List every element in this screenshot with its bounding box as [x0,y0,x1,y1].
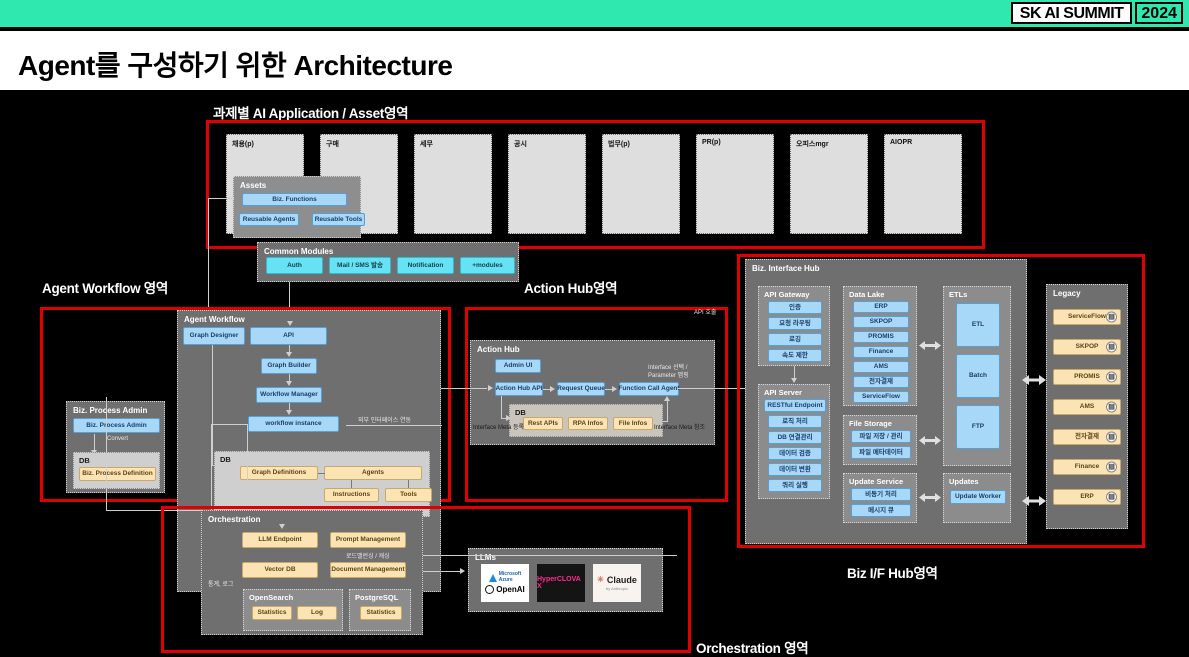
api-gateway-title: API Gateway [764,290,809,299]
arrow-wfm-instance [286,410,292,415]
data-lake-panel: Data Lake ERP SKPOP PROMIS Finance AMS 전… [843,286,917,406]
node-api-server-4[interactable]: 데이터 변환 [768,463,822,476]
node-graph-designer[interactable]: Graph Designer [183,327,245,345]
biz-interface-hub-panel: Biz. Interface Hub API Gateway 인증 요청 라우팅… [745,259,1027,544]
database-icon: ▤ [1106,342,1117,353]
label-loadbalance: 로드밸런싱 / 캐싱 [346,551,390,560]
node-workflow-instance[interactable]: workflow instance [248,416,339,432]
node-update-worker[interactable]: Update Worker [950,490,1006,504]
node-api-server-5[interactable]: 쿼리 실행 [768,479,822,492]
node-api-gateway-1[interactable]: 요청 라우팅 [768,317,822,330]
legacy-label-6: ERP [1080,493,1093,500]
legacy-label-0: ServiceFlow [1068,313,1106,320]
connector-assets-left [208,198,234,199]
node-legacy-2[interactable]: PROMIS ▤ [1053,369,1121,385]
llms-panel: LLMs Microsoft Azure OpenAI HyperCLOVA X… [468,548,663,612]
node-admin-ui[interactable]: Admin UI [495,359,541,373]
biz-process-admin-title: Biz. Process Admin [73,406,147,415]
connector-common-to-api [289,282,290,310]
orchestration-panel: Orchestration LLM Endpoint Prompt Manage… [201,510,423,635]
node-modules[interactable]: +modules [460,257,515,274]
logo-sk-ai-summit: SK AI SUMMIT [1011,2,1133,24]
legacy-label-3: AMS [1080,403,1094,410]
common-modules-title: Common Modules [264,247,333,256]
node-graph-definitions[interactable]: Graph Definitions [240,466,318,480]
updates-title: Updates [949,477,979,486]
node-etl[interactable]: ETL [956,303,1000,347]
azure-line2: Azure [499,577,513,583]
app-label-0: 채용(p) [232,139,254,149]
node-data-lake-6[interactable]: ServiceFlow [853,391,909,403]
arrow-into-llm-endpoint [279,524,285,529]
caption-action-hub: Action Hub영역 [524,277,617,297]
connector-api-to-db [501,396,502,418]
database-icon: ▤ [1106,372,1117,383]
node-biz-functions[interactable]: Biz. Functions [242,193,347,206]
claude-label: Claude [607,575,637,585]
app-box-2[interactable]: 세무 [414,134,492,234]
connector-orch-right [423,555,677,556]
node-api-server-3[interactable]: 데이터 검증 [768,447,822,460]
update-service-title: Update Service [849,477,903,486]
node-legacy-1[interactable]: SKPOP ▤ [1053,339,1121,355]
claude-logo-icon: ✳ [597,576,604,584]
node-document-management[interactable]: Document Management [330,562,406,578]
file-storage-panel: File Storage 파일 저장 / 관리 파일 메타데이터 [843,415,917,465]
node-opensearch-statistics[interactable]: Statistics [252,606,292,620]
app-box-4[interactable]: 법무(p) [602,134,680,234]
arrow-queue-fca [612,386,617,392]
connector-graphdef-agents [318,473,325,474]
action-hub-panel: Action Hub Admin UI Action Hub API Reque… [470,340,715,445]
app-label-5: PR(p) [702,139,721,146]
connector-db-to-fca [667,401,668,421]
arrow-gateway-server [791,378,797,383]
node-api-server-2[interactable]: DB 연결관리 [768,431,822,444]
logo-year: 2024 [1135,2,1183,24]
node-biz-process-definition[interactable]: Biz. Process Definition [79,467,156,481]
page-title: Agent를 구성하기 위한 Architecture [18,44,452,84]
biz-process-db-panel: DB Biz. Process Definition [73,452,160,489]
node-batch[interactable]: Batch [956,354,1000,398]
node-legacy-3[interactable]: AMS ▤ [1053,399,1121,415]
arrow-filestorage-etls [919,435,941,446]
database-icon: ▤ [1106,402,1117,413]
arrow-into-api [287,321,293,326]
action-hub-title: Action Hub [477,345,520,354]
node-api-server-1[interactable]: 로직 처리 [768,415,822,428]
data-lake-title: Data Lake [849,290,884,299]
node-opensearch-log[interactable]: Log [297,606,337,620]
etls-panel: ETLs ETL Batch FTP [943,286,1011,466]
database-icon: ▤ [1106,462,1117,473]
app-label-1: 구매 [326,139,339,149]
postgresql-panel: PostgreSQL Statistics [349,589,411,631]
database-icon: ▤ [1106,432,1117,443]
caption-app-asset: 과제별 AI Application / Asset영역 [213,102,408,122]
node-reusable-agents[interactable]: Reusable Agents [239,213,299,226]
app-box-6[interactable]: 오피스mgr [790,134,868,234]
node-api-gateway-0[interactable]: 인증 [768,301,822,314]
opensearch-panel: OpenSearch Statistics Log [243,589,343,631]
connector-wf-left-up [106,397,107,510]
node-data-lake-0[interactable]: ERP [853,301,909,313]
opensearch-title: OpenSearch [249,593,293,602]
app-label-3: 공시 [514,139,527,149]
connector-wf-down-1 [211,424,212,510]
node-auth[interactable]: Auth [266,257,323,274]
arrow-designer-graphdef [234,462,239,468]
node-function-call-agent[interactable]: Function Call Agent [619,382,679,396]
arrow-db-to-fca [664,396,670,401]
arrow-api-graphbuilder [286,352,292,357]
node-ftp[interactable]: FTP [956,405,1000,449]
label-stats-log: 통계, 로그 [208,579,233,588]
node-graph-builder[interactable]: Graph Builder [261,358,317,374]
node-prompt-management[interactable]: Prompt Management [330,532,406,548]
llm-vendor-claude[interactable]: ✳ Claude by Anthropic [593,564,641,602]
node-postgresql-statistics[interactable]: Statistics [360,606,402,620]
node-data-lake-3[interactable]: Finance [853,346,909,358]
node-rpa-infos[interactable]: RPA Infos [568,417,608,430]
app-box-5[interactable]: PR(p) [696,134,774,234]
api-server-title: API Server [764,388,802,397]
node-data-lake-4[interactable]: AMS [853,361,909,373]
node-data-lake-2[interactable]: PROMIS [853,331,909,343]
biz-interface-hub-title: Biz. Interface Hub [752,264,820,273]
arrow-datalake-etls [919,340,941,351]
arrow-into-actionhubapi [488,385,493,391]
legacy-label-1: SKPOP [1076,343,1099,350]
app-box-3[interactable]: 공시 [508,134,586,234]
connector-wf-left-1 [211,424,247,425]
azure-logo-icon [489,574,497,582]
label-api-call: API 호출 [694,307,716,316]
clova-label: HyperCLOVA X [537,576,585,590]
label-interface-meta-register: Interface Meta 등록 [473,422,524,431]
connector-instance-external [346,425,442,426]
diagram-canvas: 과제별 AI Application / Asset영역 Agent Workf… [0,94,1189,657]
database-icon: ▤ [1106,492,1117,503]
action-hub-db-panel: DB Rest APIs RPA Infos File Infos [509,404,663,437]
connector-designer-down [212,345,213,465]
node-api[interactable]: API [250,327,327,345]
etls-title: ETLs [949,290,967,299]
label-convert: Convert [107,436,128,442]
legacy-label-5: Finance [1075,463,1100,470]
legacy-label-4: 전자결재 [1075,433,1099,440]
node-rest-apis[interactable]: Rest APIs [523,417,563,430]
node-workflow-manager[interactable]: Workflow Manager [256,387,322,403]
action-hub-db-title: DB [515,408,526,417]
app-label-4: 법무(p) [608,139,630,149]
node-api-gateway-3[interactable]: 속도 제한 [768,349,822,362]
legacy-panel: Legacy ServiceFlow ▤ SKPOP ▤ PROMIS ▤ AM… [1046,284,1128,529]
label-parameter-mapping: Parameter 맵핑 [648,370,689,379]
arrow-updates-legacy [1022,495,1046,506]
node-legacy-5[interactable]: Finance ▤ [1053,459,1121,475]
agent-workflow-title: Agent Workflow [184,315,245,324]
node-agents[interactable]: Agents [324,466,422,480]
arrow-etls-legacy [1022,374,1046,385]
node-llm-endpoint[interactable]: LLM Endpoint [242,532,318,548]
legacy-title: Legacy [1053,289,1081,298]
brand-bar-underline [0,27,1189,31]
postgresql-title: PostgreSQL [355,593,398,602]
llm-vendor-azure-openai[interactable]: Microsoft Azure OpenAI [481,564,529,602]
llm-vendor-hyperclova-x[interactable]: HyperCLOVA X [537,564,585,602]
file-storage-title: File Storage [849,419,892,428]
app-label-6: 오피스mgr [796,139,829,149]
node-request-queue[interactable]: Request Queue [557,382,605,396]
app-box-7[interactable]: AIOPR [884,134,962,234]
node-update-service-1[interactable]: 메시지 큐 [851,504,911,517]
openai-label: OpenAI [496,585,524,594]
node-data-lake-1[interactable]: SKPOP [853,316,909,328]
node-file-storage-1[interactable]: 파일 메타데이터 [851,446,911,459]
api-server-panel: API Server RESTful Endpoint 로직 처리 DB 연결관… [758,384,830,499]
caption-agent-workflow: Agent Workflow 영역 [42,277,168,297]
database-icon: ▤ [1106,312,1117,323]
arrow-graphbuilder-wfm [286,381,292,386]
node-instructions[interactable]: Instructions [324,488,379,502]
api-gateway-panel: API Gateway 인증 요청 라우팅 로깅 속도 제한 [758,286,830,366]
claude-sub: by Anthropic [606,586,628,591]
node-api-server-0[interactable]: RESTful Endpoint [764,399,826,412]
assets-title: Assets [240,181,266,190]
node-update-service-0[interactable]: 비동기 처리 [851,488,911,501]
updates-panel: Updates Update Worker [943,473,1011,523]
arrow-orch-to-llms [460,568,465,574]
arrow-api-queue [550,386,555,392]
arrow-updateservice-updates [919,492,941,503]
biz-process-admin-panel: Biz. Process Admin Biz. Process Admin Co… [66,401,165,493]
app-label-2: 세무 [420,139,433,149]
connector-agents-instructions [351,480,352,488]
update-service-panel: Update Service 비동기 처리 메시지 큐 [843,473,917,523]
arrow-api-to-db [506,415,511,421]
node-tools[interactable]: Tools [385,488,432,502]
connector-orch-to-llms [423,571,463,572]
node-api-gateway-2[interactable]: 로깅 [768,333,822,346]
connector-wf-to-actionhub [441,388,487,389]
node-legacy-0[interactable]: ServiceFlow ▤ [1053,309,1121,325]
node-file-storage-0[interactable]: 파일 저장 / 관리 [851,430,911,443]
app-label-7: AIOPR [890,139,912,146]
node-vector-db[interactable]: Vector DB [242,562,318,578]
biz-process-db-title: DB [79,456,90,465]
legacy-label-2: PROMIS [1074,373,1100,380]
node-action-hub-api[interactable]: Action Hub API [495,382,543,396]
summit-logo: SK AI SUMMIT 2024 [1011,2,1183,24]
node-legacy-6[interactable]: ERP ▤ [1053,489,1121,505]
common-modules-panel: Common Modules Auth Mail / SMS 발송 Notifi… [257,242,519,282]
node-notification[interactable]: Notification [397,257,454,274]
node-biz-process-admin[interactable]: Biz. Process Admin [73,418,160,433]
openai-logo-icon [485,585,494,594]
node-reusable-tools[interactable]: Reusable Tools [312,213,365,226]
caption-biz-if-hub: Biz I/F Hub영역 [847,562,938,582]
assets-panel: Assets Biz. Functions Reusable Agents Re… [233,176,361,238]
node-mail-sms[interactable]: Mail / SMS 발송 [329,257,391,274]
connector-agents-tools [408,480,409,488]
node-file-infos[interactable]: File Infos [613,417,653,430]
orchestration-title: Orchestration [208,515,260,524]
node-legacy-4[interactable]: 전자결재 ▤ [1053,429,1121,445]
caption-orchestration: Orchestration 영역 [696,637,808,657]
label-external-interface: 외부 인터페이스 연동 [358,415,411,424]
label-interface-meta-reference: Interface Meta 참조 [654,422,705,431]
workflow-db-title: DB [220,455,231,464]
node-data-lake-5[interactable]: 전자결재 [853,376,909,388]
